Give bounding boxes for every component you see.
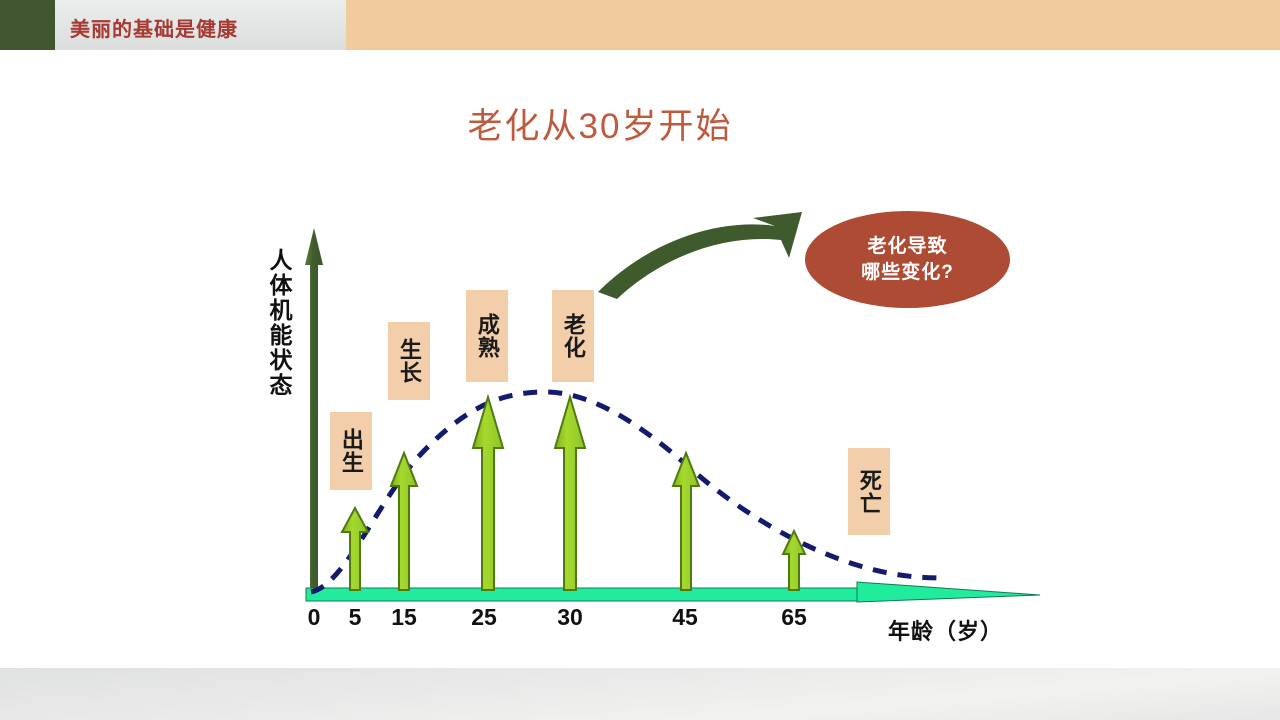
tick-label-30: 30 xyxy=(557,604,583,631)
x-axis-label: 年龄（岁） xyxy=(888,614,1003,646)
callout-ellipse: 老化导致 哪些变化? xyxy=(805,211,1010,308)
bottom-decor-band xyxy=(0,668,1280,720)
stage-box-birth: 出生 xyxy=(330,412,372,490)
callout-line-1: 老化导致 xyxy=(861,234,954,260)
y-axis-label: 人体机能状态 xyxy=(262,248,292,398)
x-axis-arrow xyxy=(306,582,1040,602)
bar-arrow-age-25 xyxy=(473,397,503,590)
bar-arrow-age-45 xyxy=(673,453,699,590)
y-axis-arrow xyxy=(305,228,323,592)
curved-callout-arrow xyxy=(598,212,802,299)
diagram-canvas: 人体机能状态 出生 生长 成熟 老化 死亡 老化导致 哪些变化? 0 5 15 … xyxy=(0,0,1280,720)
stage-box-growth: 生长 xyxy=(388,322,430,400)
tick-label-0: 0 xyxy=(308,604,321,631)
tick-label-15: 15 xyxy=(391,604,417,631)
stage-box-maturity: 成熟 xyxy=(466,290,508,382)
tick-label-45: 45 xyxy=(672,604,698,631)
bar-arrow-age-30 xyxy=(555,397,585,590)
bar-arrow-age-65 xyxy=(783,531,805,590)
callout-line-2: 哪些变化? xyxy=(861,260,954,286)
tick-label-5: 5 xyxy=(349,604,362,631)
tick-label-65: 65 xyxy=(781,604,807,631)
diagram-svg xyxy=(0,0,1280,720)
bar-arrow-age-5 xyxy=(342,508,368,590)
tick-label-25: 25 xyxy=(471,604,497,631)
bar-arrow-age-15 xyxy=(391,453,417,590)
stage-box-death: 死亡 xyxy=(848,448,890,535)
stage-box-aging: 老化 xyxy=(552,290,594,382)
